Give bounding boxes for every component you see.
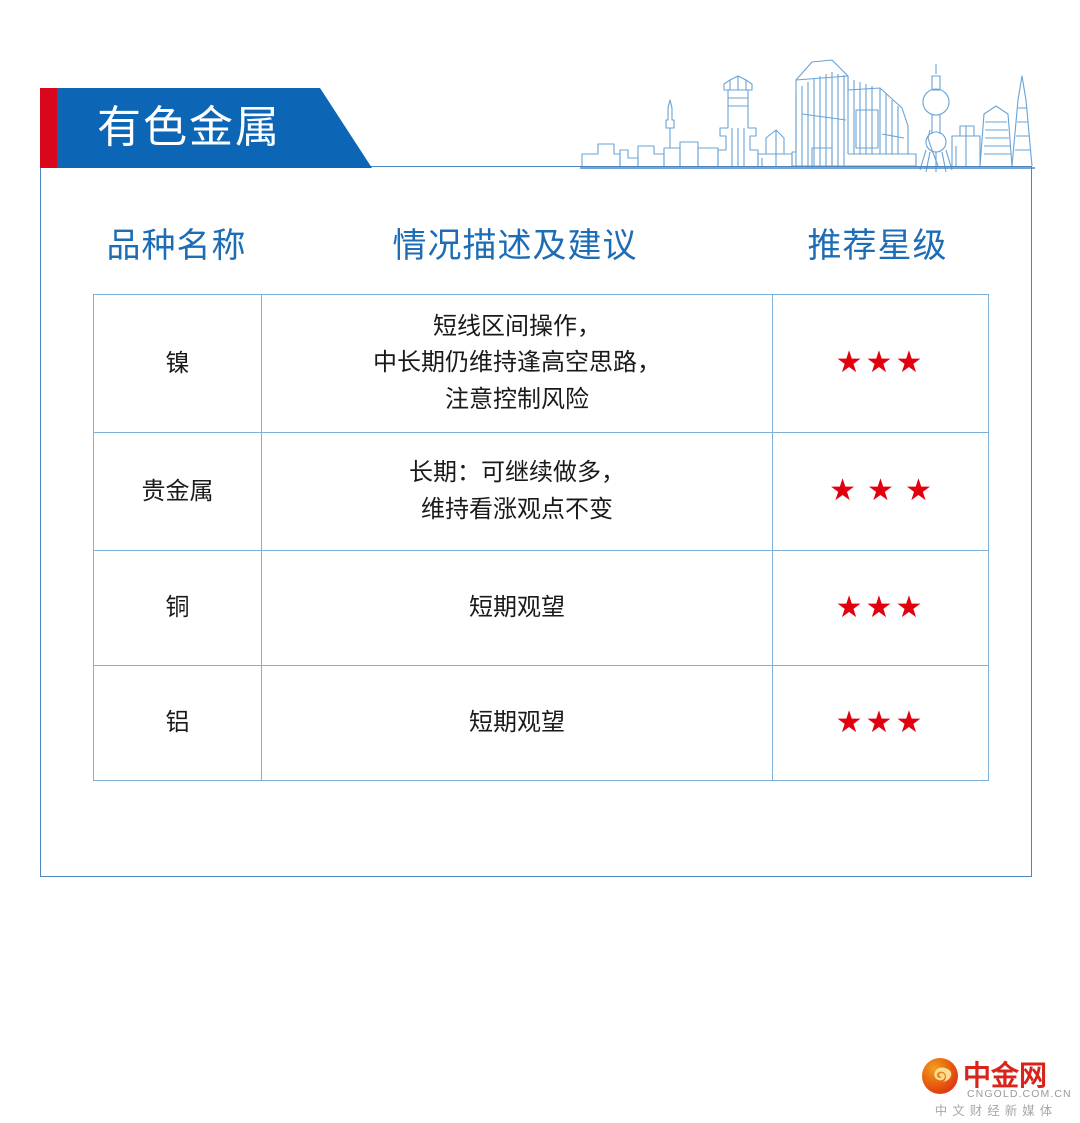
cell-variety-name: 镍 — [94, 295, 262, 433]
variety-name-text: 铜 — [166, 594, 190, 621]
cell-variety-name: 贵金属 — [94, 433, 262, 551]
description-line: 长期：可继续做多， — [262, 455, 772, 491]
advice-table: 镍 短线区间操作， 中长期仍维持逢高空思路， 注意控制风险 ★★★ 贵金属 长期… — [93, 294, 989, 781]
cngold-swirl-icon — [922, 1058, 958, 1094]
star-rating: ★★★ — [818, 476, 943, 506]
variety-name-text: 贵金属 — [142, 478, 214, 505]
description-line: 短期观望 — [262, 590, 772, 626]
description-line: 注意控制风险 — [262, 382, 772, 418]
variety-name-text: 铝 — [166, 709, 190, 736]
description-line: 短线区间操作， — [262, 309, 772, 345]
variety-name-text: 镍 — [166, 350, 190, 377]
logo-domain: CNGOLD.COM.CN — [967, 1089, 1072, 1100]
section-title: 有色金属 — [97, 106, 281, 150]
section-banner: 有色金属 — [40, 88, 380, 168]
description-line: 短期观望 — [262, 705, 772, 741]
logo-tagline: 中文财经新媒体 — [922, 1105, 1070, 1118]
banner-red-accent-bar — [40, 88, 57, 168]
logo-wordmark: 中金网 — [963, 1062, 1047, 1090]
cell-description: 短线区间操作， 中长期仍维持逢高空思路， 注意控制风险 — [262, 295, 773, 433]
star-rating: ★★★ — [836, 348, 926, 378]
table-row: 贵金属 长期：可继续做多， 维持看涨观点不变 ★★★ — [94, 433, 989, 551]
cell-description: 长期：可继续做多， 维持看涨观点不变 — [262, 433, 773, 551]
cell-description: 短期观望 — [262, 551, 773, 666]
table-row: 铜 短期观望 ★★★ — [94, 551, 989, 666]
cell-description: 短期观望 — [262, 666, 773, 781]
cell-star-rating: ★★★ — [773, 433, 989, 551]
column-header-name: 品种名称 — [93, 229, 260, 263]
city-skyline-icon — [580, 50, 1035, 172]
table-row: 铝 短期观望 ★★★ — [94, 666, 989, 781]
swirl-glyph — [922, 1058, 958, 1094]
column-header-description: 情况描述及建议 — [260, 229, 770, 263]
star-rating: ★★★ — [836, 593, 926, 623]
cell-star-rating: ★★★ — [773, 666, 989, 781]
description-line: 中长期仍维持逢高空思路， — [262, 345, 772, 381]
column-header-stars: 推荐星级 — [770, 229, 985, 263]
city-skyline-decoration — [580, 50, 1035, 172]
cell-variety-name: 铝 — [94, 666, 262, 781]
star-rating: ★★★ — [836, 708, 926, 738]
cell-variety-name: 铜 — [94, 551, 262, 666]
description-line: 维持看涨观点不变 — [262, 492, 772, 528]
table-column-headers: 品种名称 情况描述及建议 推荐星级 — [93, 222, 985, 270]
cell-star-rating: ★★★ — [773, 295, 989, 433]
table-row: 镍 短线区间操作， 中长期仍维持逢高空思路， 注意控制风险 ★★★ — [94, 295, 989, 433]
cell-star-rating: ★★★ — [773, 551, 989, 666]
brand-logo: 中金网 CNGOLD.COM.CN 中文财经新媒体 — [922, 1058, 1070, 1120]
